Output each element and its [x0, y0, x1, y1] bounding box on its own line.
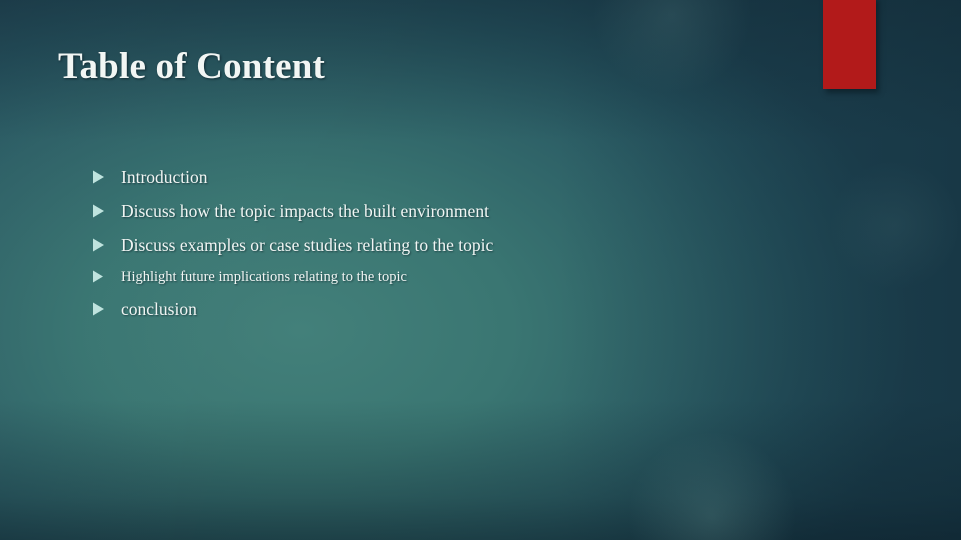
- triangle-right-icon: [92, 199, 121, 218]
- list-item-label: Highlight future implications relating t…: [121, 267, 862, 288]
- red-accent-bar: [823, 0, 876, 89]
- triangle-right-icon: [92, 233, 121, 252]
- list-item-label: Introduction: [121, 165, 862, 190]
- list-item-label: Discuss how the topic impacts the built …: [121, 199, 862, 224]
- list-item[interactable]: conclusion: [92, 297, 862, 322]
- triangle-right-icon: [92, 165, 121, 184]
- list-item[interactable]: Highlight future implications relating t…: [92, 267, 862, 288]
- triangle-right-icon: [92, 267, 121, 283]
- list-item-label: conclusion: [121, 297, 862, 322]
- list-item[interactable]: Introduction: [92, 165, 862, 190]
- slide-title: Table of Content: [58, 44, 325, 90]
- list-item-label: Discuss examples or case studies relatin…: [121, 233, 862, 258]
- table-of-contents-list: Introduction Discuss how the topic impac…: [92, 165, 862, 322]
- list-item[interactable]: Discuss how the topic impacts the built …: [92, 199, 862, 224]
- presentation-slide: Table of Content Introduction Discuss ho…: [0, 0, 961, 540]
- list-item[interactable]: Discuss examples or case studies relatin…: [92, 233, 862, 258]
- triangle-right-icon: [92, 297, 121, 316]
